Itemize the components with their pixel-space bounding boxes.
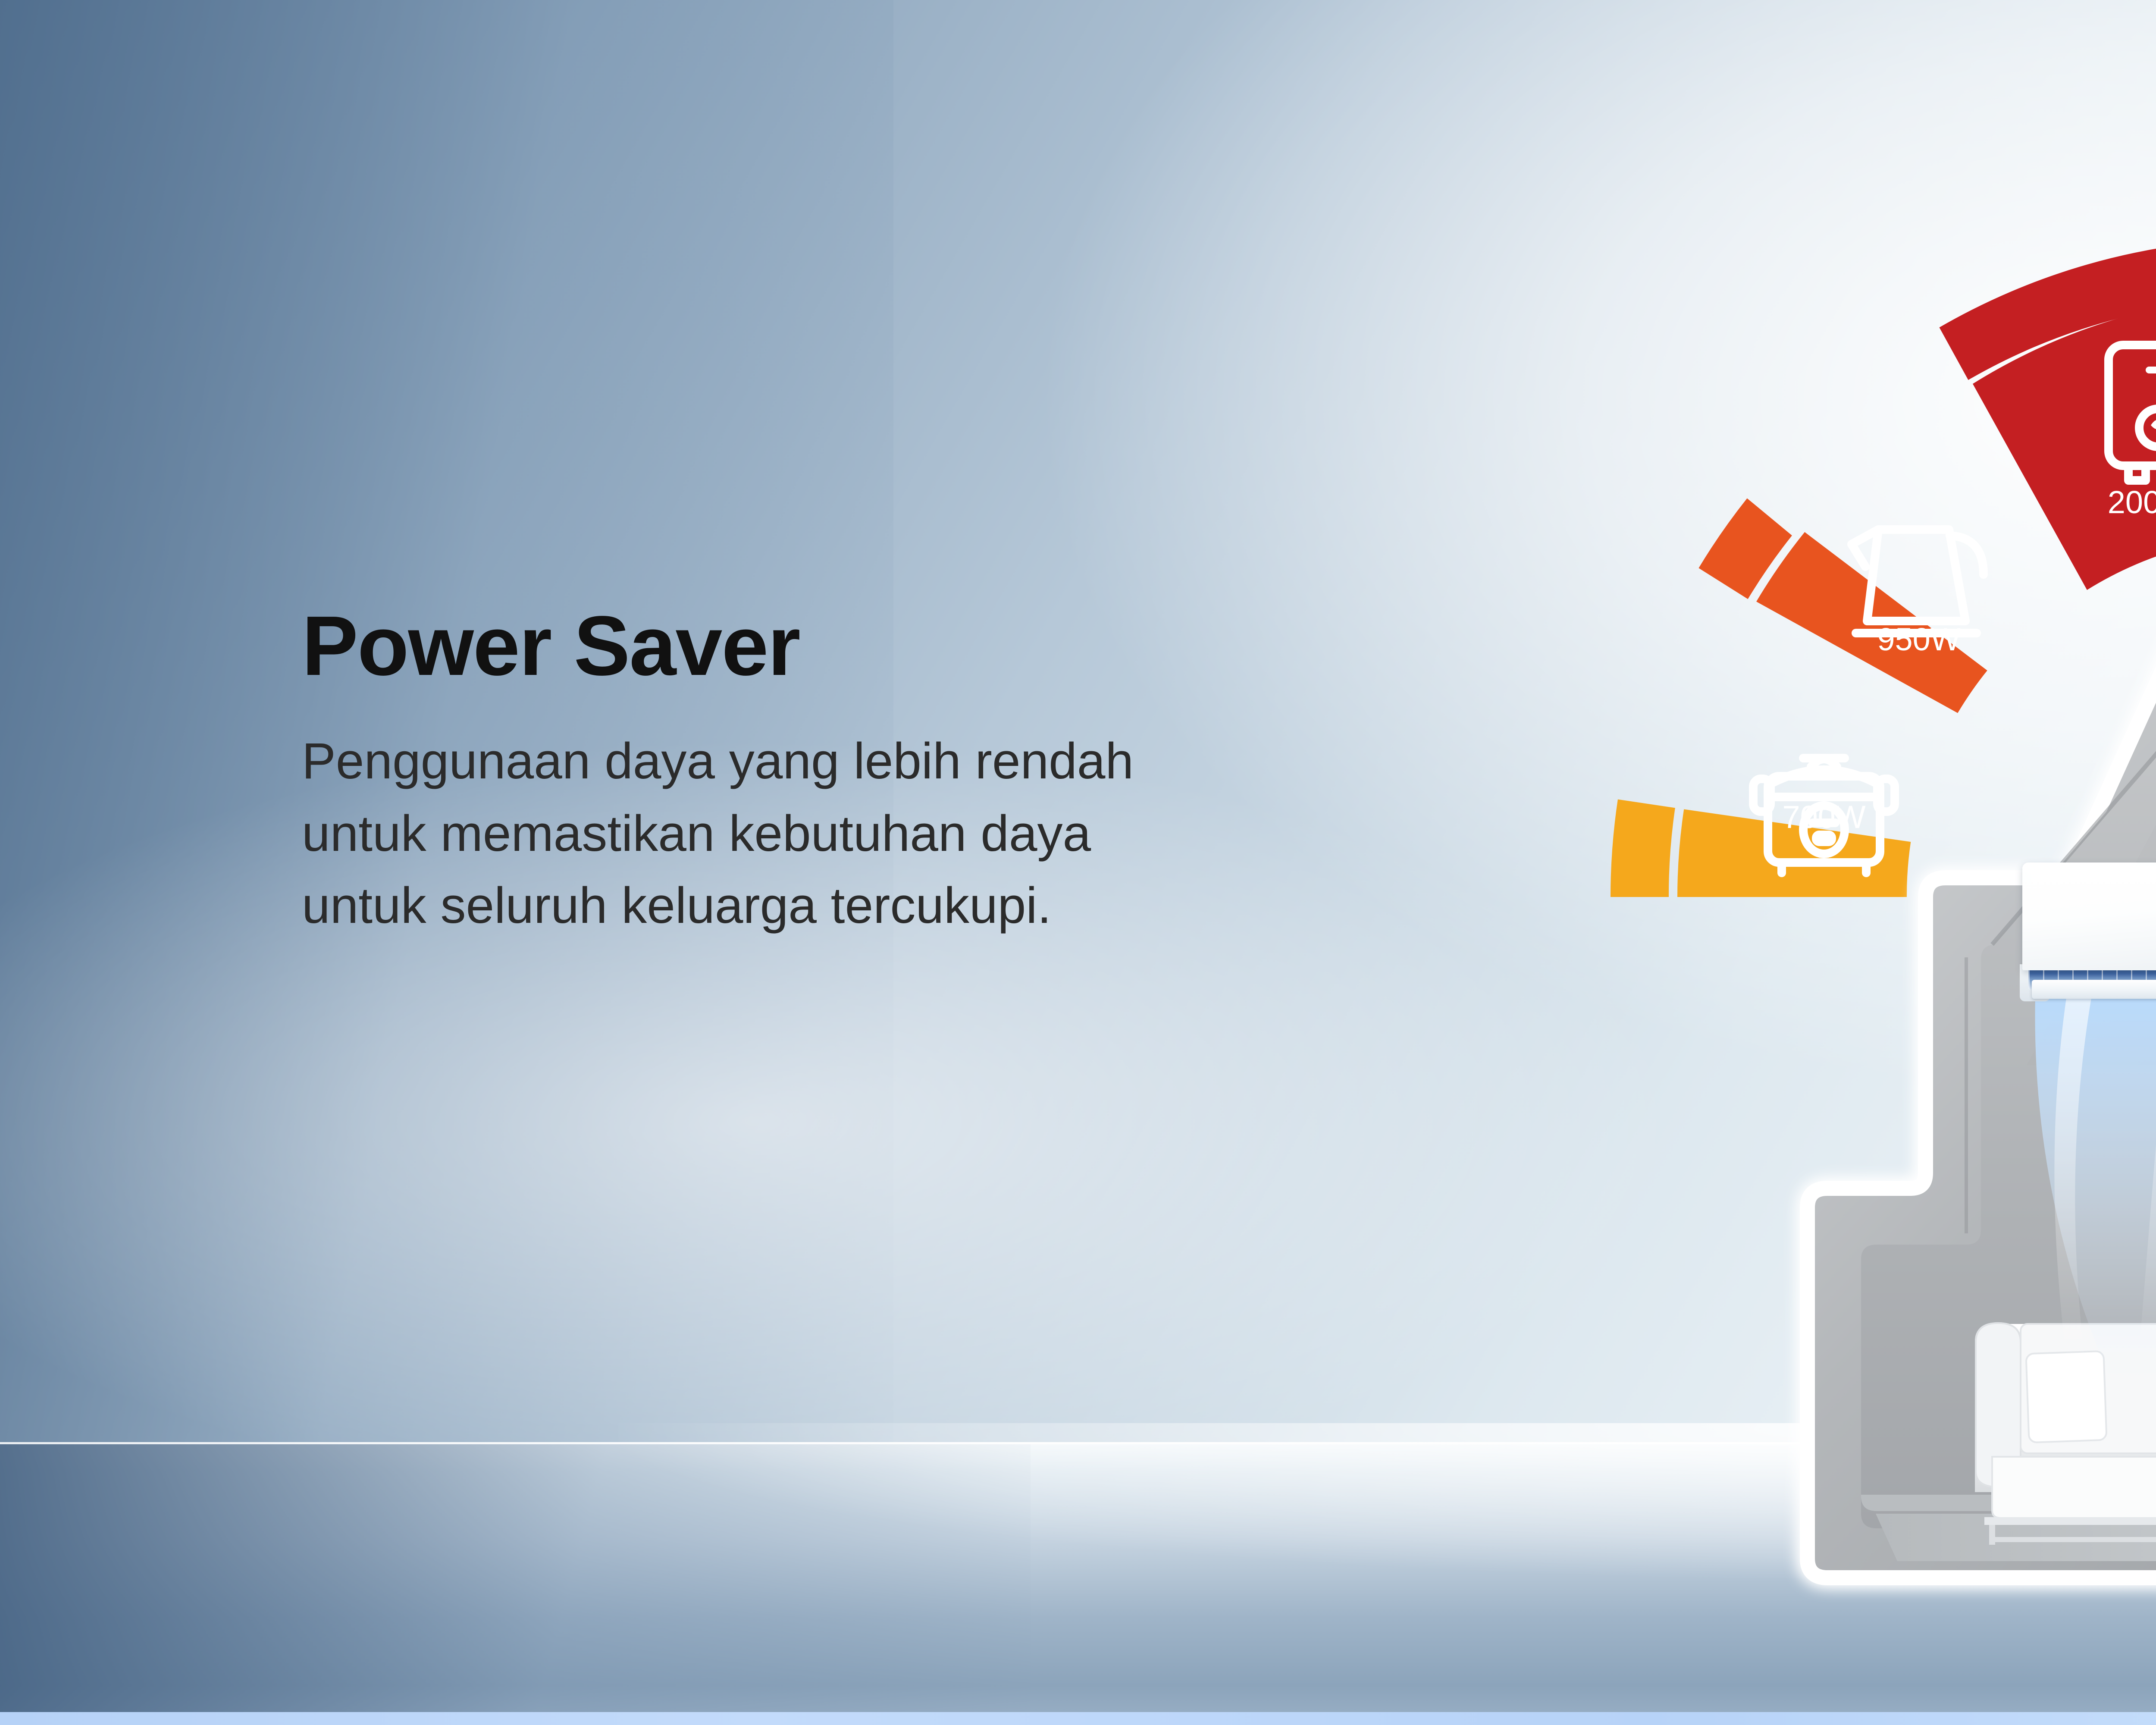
ac-front-panel: AQUA 25 [2022,862,2156,970]
bottom-accent-band [0,1712,2156,1725]
sofa-cushion-left [1992,1457,2156,1518]
sofa-pillow-left [2026,1351,2106,1443]
sofa [1975,1323,2156,1545]
power-saver-banner: Power Saver Penggunaan daya yang lebih r… [0,0,2156,1725]
headline-block: Power Saver Penggunaan daya yang lebih r… [302,604,1272,942]
room-furniture [1789,1100,2156,1617]
air-conditioner-unit: AQUA 25 [2022,862,2156,1018]
sofa-frame [1984,1517,2156,1525]
page-description: Penggunaan daya yang lebih rendah untuk … [302,725,1216,942]
page-title: Power Saver [302,604,1272,688]
ac-panel-gloss [2031,866,2156,911]
ac-louver [2032,980,2156,999]
